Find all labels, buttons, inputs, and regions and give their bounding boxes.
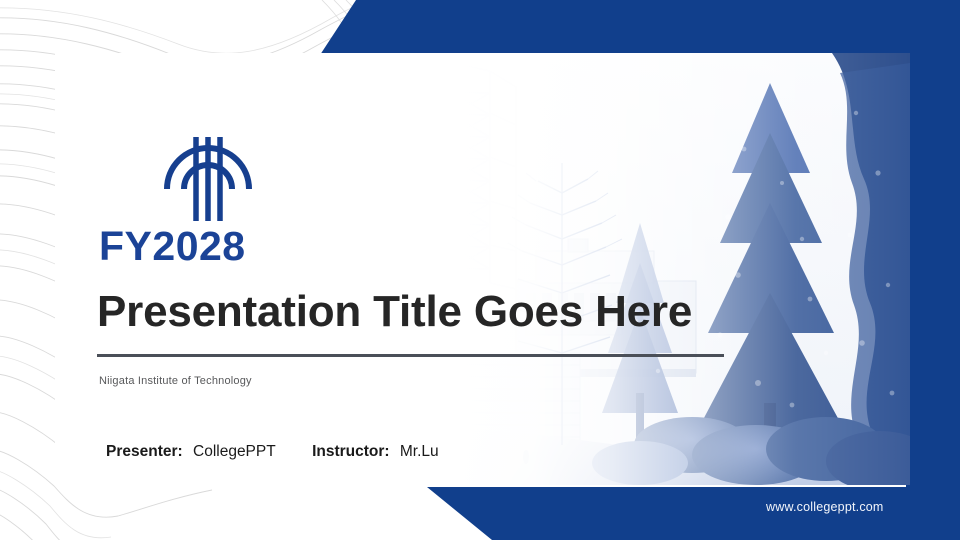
footer-url: www.collegeppt.com <box>766 500 884 514</box>
page-title: Presentation Title Goes Here <box>97 289 692 335</box>
presenter-name: CollegePPT <box>193 443 275 460</box>
presenter-label: Presenter: <box>106 443 183 460</box>
campus-photo <box>340 53 910 485</box>
organization-name: Niigata Institute of Technology <box>99 375 252 387</box>
presenter-instructor-line: Presenter: CollegePPT Instructor: Mr.Lu <box>106 443 439 461</box>
fiscal-year-label: FY2028 <box>99 226 246 267</box>
instructor-label: Instructor: <box>312 443 390 460</box>
right-blue-column <box>906 0 960 540</box>
top-blue-band <box>318 0 960 58</box>
instructor-name: Mr.Lu <box>400 443 439 460</box>
presentation-slide: FY2028 Presentation Title Goes Here Niig… <box>0 0 960 540</box>
niigata-institute-of-technology-logo <box>163 133 253 225</box>
photo-white-fade <box>340 53 910 485</box>
content-card: FY2028 Presentation Title Goes Here Niig… <box>55 53 910 485</box>
title-divider <box>97 354 724 357</box>
